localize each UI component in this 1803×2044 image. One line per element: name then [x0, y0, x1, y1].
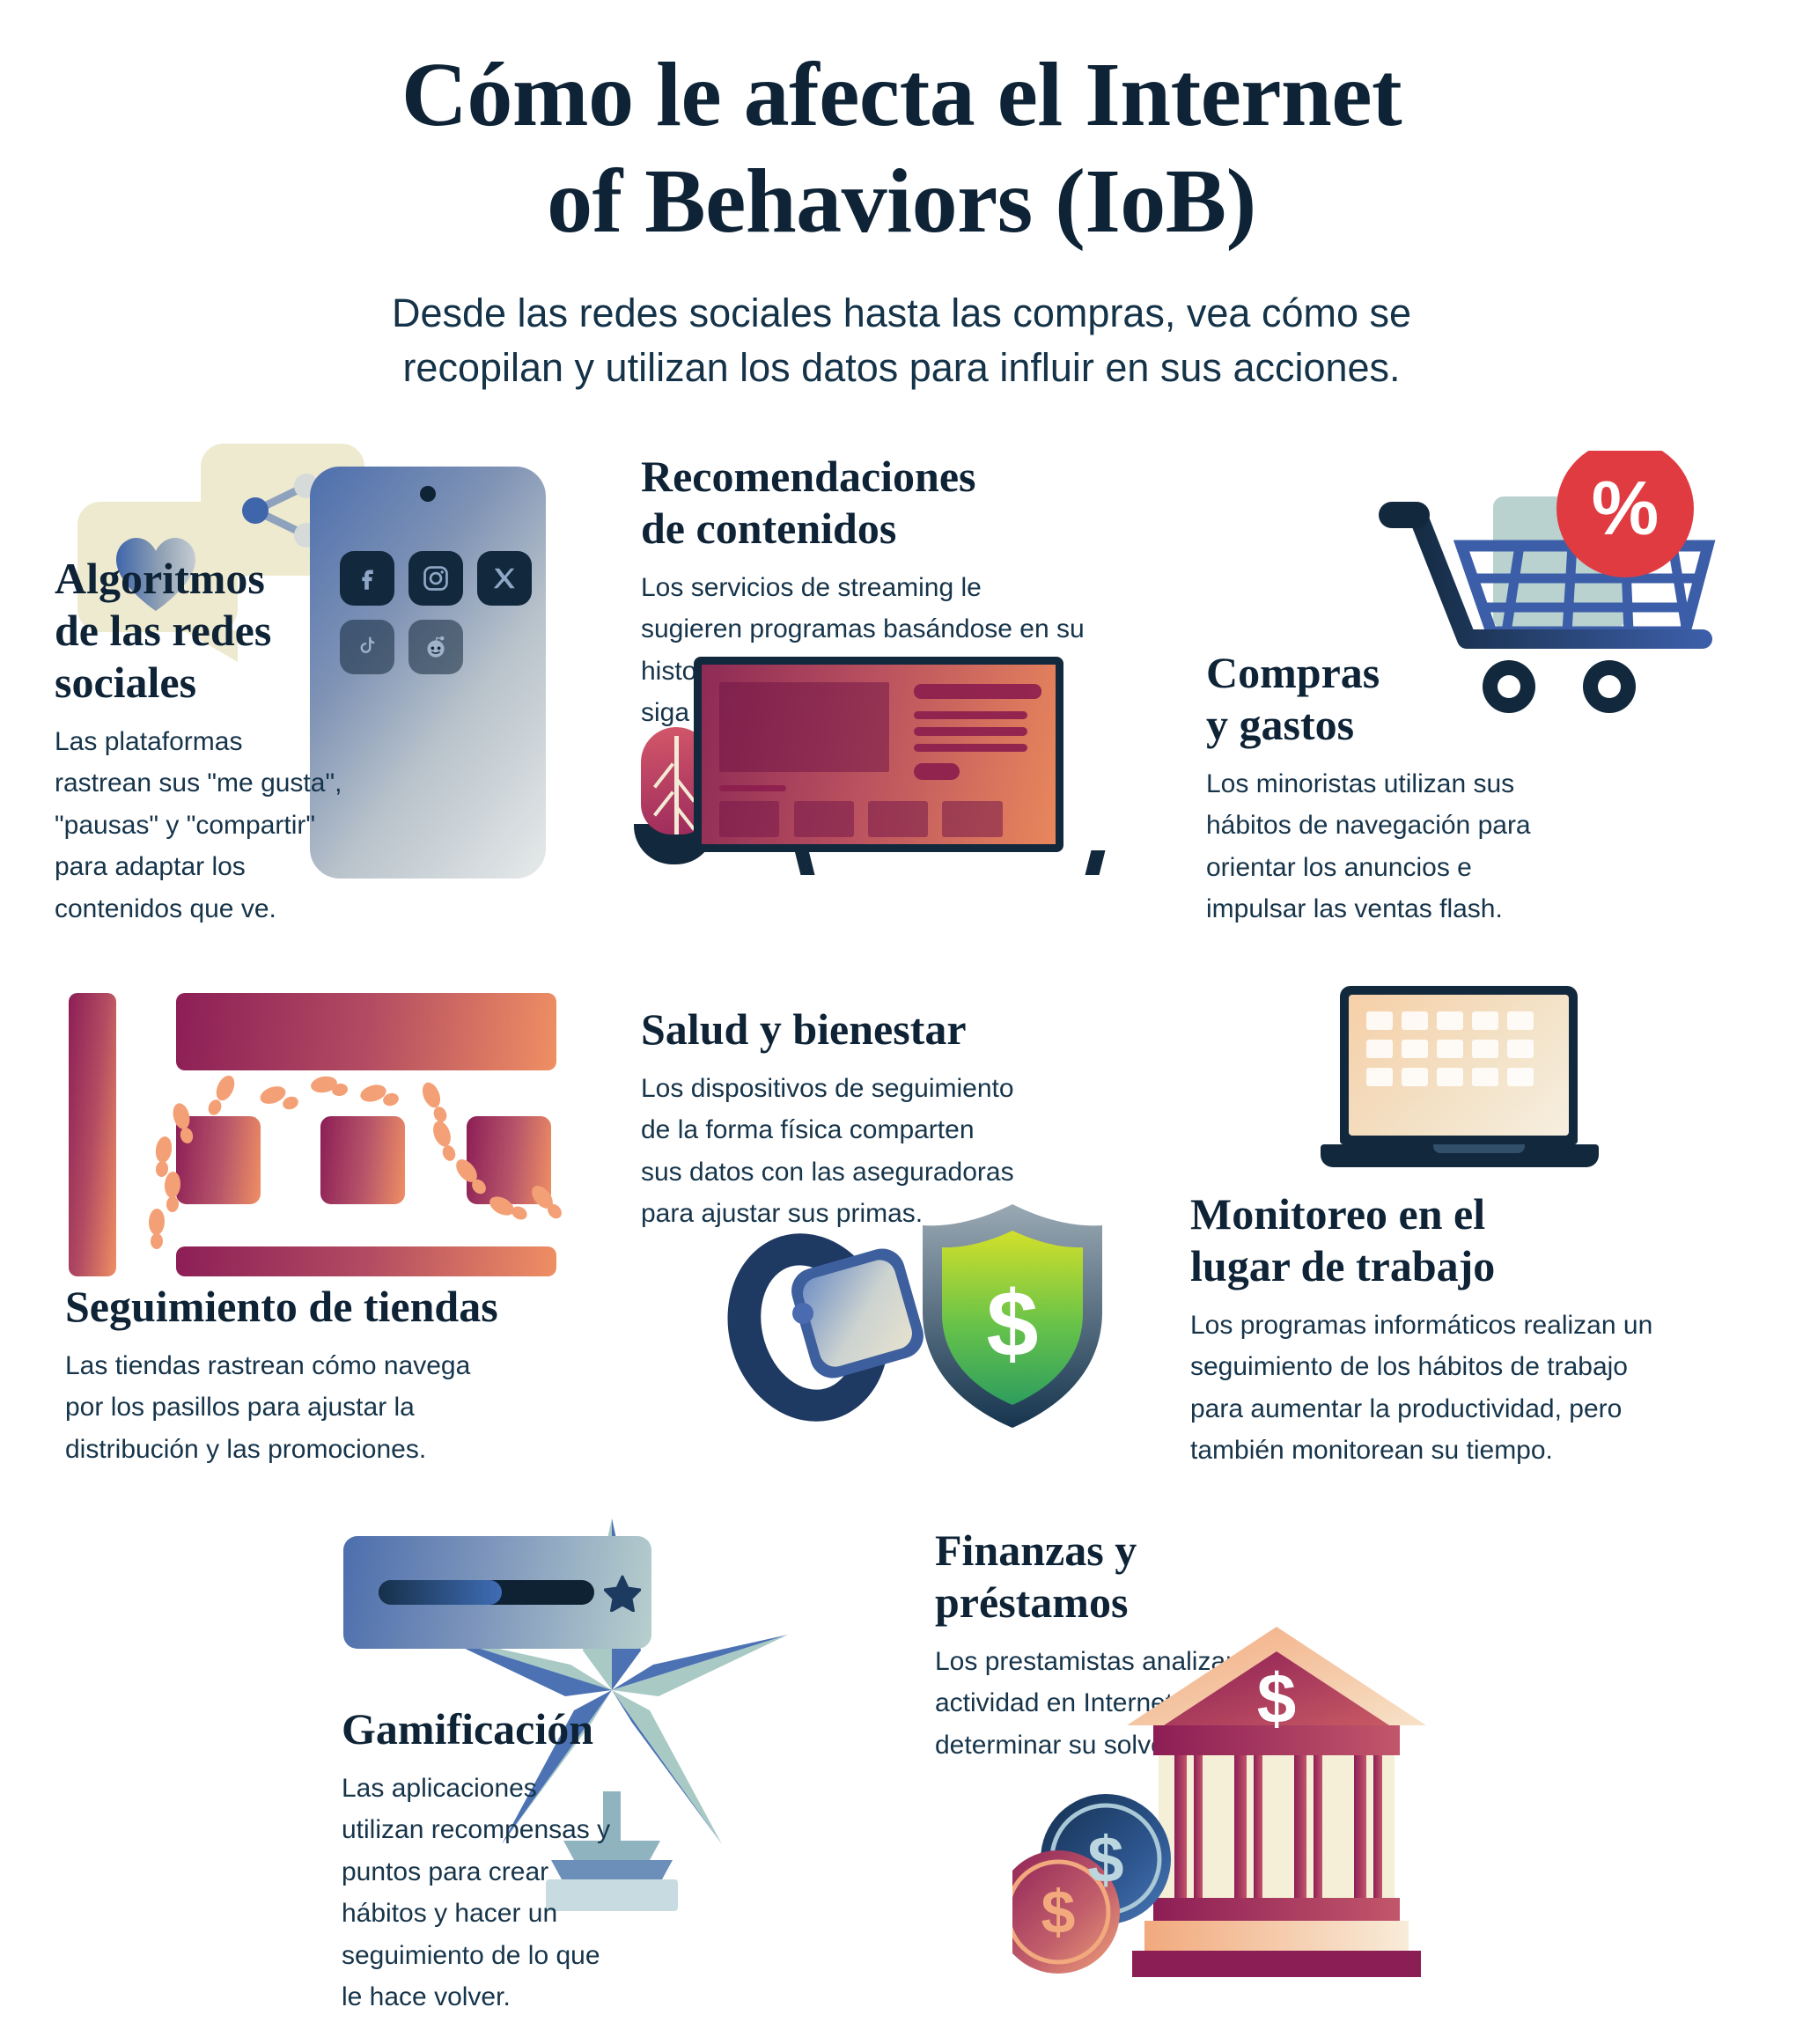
- progress-panel: [343, 1536, 651, 1649]
- facebook-icon[interactable]: [340, 551, 394, 606]
- television-icon: [694, 657, 1063, 852]
- shield-dollar-label: $: [968, 1271, 1056, 1377]
- star-badge-icon: [604, 1575, 641, 1616]
- health-wellness-illustration: $: [704, 1180, 1144, 1444]
- title-line: Compras: [1206, 647, 1558, 699]
- page-header: Cómo le afecta el Internet of Behaviors …: [0, 0, 1803, 395]
- workplace-monitoring-illustration: [1321, 986, 1637, 1206]
- tv-leg: [795, 850, 815, 875]
- finance-loans-illustration: $ $ $: [1012, 1584, 1505, 1989]
- tv-play-pill: [914, 763, 960, 779]
- title-line: Recomendaciones: [641, 451, 1090, 503]
- tiktok-icon[interactable]: [340, 620, 394, 674]
- workplace-monitoring-title: Monitoreo en el lugar de trabajo: [1190, 1188, 1683, 1292]
- plant-stem-icon: [674, 736, 679, 835]
- store-tracking-body: Las tiendas rastrean cómo navega por los…: [65, 1345, 505, 1470]
- laptop-trackpad-notch: [1433, 1144, 1525, 1153]
- title-line: y gastos: [1206, 699, 1558, 751]
- shopping-title: Compras y gastos: [1206, 647, 1558, 751]
- smartphone: [310, 467, 546, 879]
- tv-thumbnail: [868, 801, 928, 837]
- store-tracking-illustration: [69, 986, 570, 1285]
- smartwatch-icon: [706, 1214, 929, 1440]
- instagram-icon[interactable]: [408, 551, 463, 606]
- title-line: lugar de trabajo: [1190, 1240, 1683, 1292]
- title-line: sociales: [55, 657, 345, 709]
- gamification-text: Gamificación Las aplicaciones utilizan r…: [342, 1703, 623, 2018]
- tv-hero-tile: [719, 682, 889, 772]
- footprints-icon: [69, 986, 570, 1285]
- tv-text-line: [914, 727, 1027, 735]
- tv-leg: [1085, 850, 1106, 875]
- title-line: Monitoreo en el: [1190, 1188, 1683, 1240]
- reddit-icon[interactable]: [408, 620, 463, 674]
- health-wellness-title: Salud y bienestar: [641, 1004, 1019, 1055]
- title-line: de las redes: [55, 605, 345, 657]
- store-tracking-title: Seguimiento de tiendas: [65, 1281, 505, 1333]
- laptop-screen-content: [1349, 995, 1569, 1136]
- social-algorithms-title: Algoritmos de las redes sociales: [55, 553, 345, 709]
- tv-subtitle-line: [719, 785, 786, 791]
- page-title: Cómo le afecta el Internet of Behaviors …: [0, 42, 1803, 254]
- coin-blue-label: $: [1078, 1819, 1134, 1900]
- title-line: Algoritmos: [55, 553, 345, 605]
- progress-bar-fill: [379, 1580, 502, 1605]
- store-tracking-text: Seguimiento de tiendas Las tiendas rastr…: [65, 1281, 505, 1470]
- content-recommendations-title: Recomendaciones de contenidos: [641, 451, 1090, 555]
- app-icon-grid: [340, 551, 532, 674]
- page-title-line-2: of Behaviors (IoB): [0, 149, 1803, 255]
- gamification-body: Las aplicaciones utilizan recompensas y …: [342, 1768, 623, 2018]
- page-subtitle-line-1: Desde las redes sociales hasta las compr…: [0, 286, 1803, 341]
- tv-text-line: [914, 711, 1027, 719]
- tv-thumbnail: [719, 801, 779, 837]
- shopping-body: Los minoristas utilizan sus hábitos de n…: [1206, 763, 1558, 930]
- phone-camera-icon: [420, 486, 436, 502]
- x-twitter-icon[interactable]: [477, 551, 532, 606]
- page-subtitle-line-2: recopilan y utilizan los datos para infl…: [0, 341, 1803, 395]
- content-recommendations-illustration: [627, 651, 1102, 889]
- workplace-monitoring-body: Los programas informáticos realizan un s…: [1190, 1305, 1683, 1472]
- social-algorithms-text: Algoritmos de las redes sociales Las pla…: [55, 553, 345, 930]
- social-algorithms-body: Las plataformas rastrean sus "me gusta",…: [55, 721, 345, 930]
- workplace-monitoring-text: Monitoreo en el lugar de trabajo Los pro…: [1190, 1188, 1683, 1472]
- page-subtitle: Desde las redes sociales hasta las compr…: [0, 286, 1803, 395]
- tv-thumbnail: [942, 801, 1002, 837]
- gamification-title: Gamificación: [342, 1703, 623, 1755]
- laptop-icon: [1340, 986, 1578, 1144]
- infographic-page: Cómo le afecta el Internet of Behaviors …: [0, 0, 1803, 2044]
- page-title-line-1: Cómo le afecta el Internet: [0, 42, 1803, 149]
- title-line: de contenidos: [641, 503, 1090, 555]
- coin-red-label: $: [1032, 1873, 1085, 1951]
- shopping-text: Compras y gastos Los minoristas utilizan…: [1206, 647, 1558, 930]
- tv-thumbnail: [794, 801, 854, 837]
- bank-dollar-label: $: [1243, 1658, 1310, 1739]
- percent-badge-label: %: [1590, 460, 1660, 558]
- tv-text-line: [914, 744, 1027, 752]
- tv-screen: [702, 665, 1056, 844]
- tv-text-line: [914, 684, 1041, 698]
- progress-bar[interactable]: [379, 1580, 594, 1605]
